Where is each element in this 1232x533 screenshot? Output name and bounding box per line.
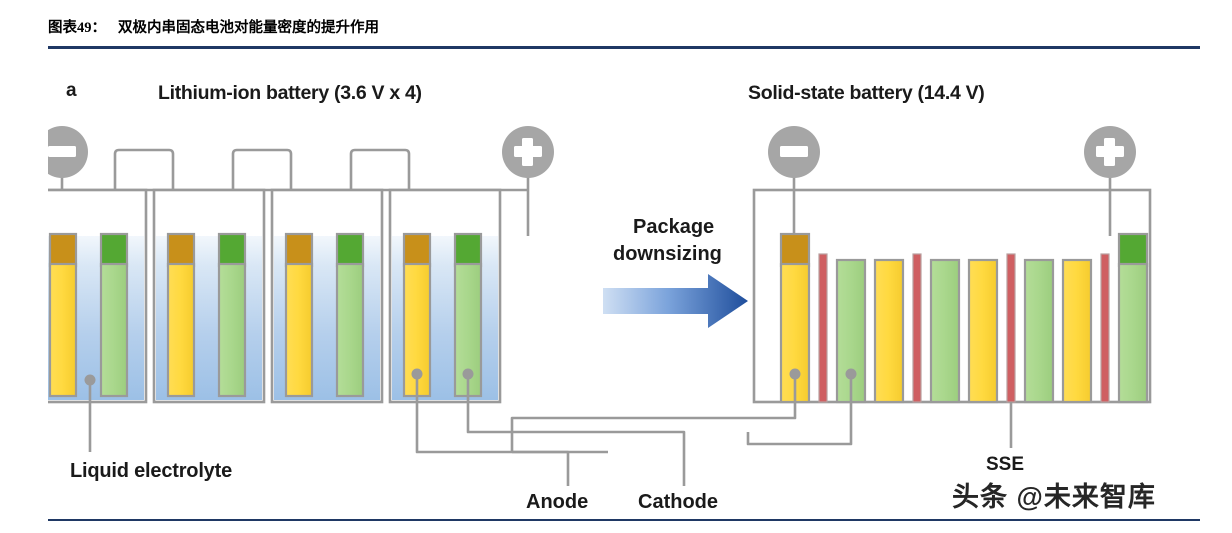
figure-diagram: a Lithium-ion battery (3.6 V x 4) Solid-… [48, 56, 1200, 516]
ssb-sse-4 [1101, 254, 1109, 402]
liion-cell-3 [272, 190, 382, 402]
ssb-sse-2 [913, 254, 921, 402]
figure-title-text: 双极内串固态电池对能量密度的提升作用 [118, 20, 379, 36]
ssb-sse-1 [819, 254, 827, 402]
ssb-positive-terminal-icon [1084, 126, 1136, 178]
watermark: 头条 @未来智库 [952, 475, 1156, 514]
negative-terminal-icon [48, 126, 88, 178]
label-liquid-electrolyte: Liquid electrolyte [70, 460, 232, 483]
ssb-sse-3 [1007, 254, 1015, 402]
ssb-cathode-4 [1119, 234, 1147, 402]
header-divider [48, 46, 1200, 49]
page-title: 图表49：双极内串固态电池对能量密度的提升作用 [48, 18, 1200, 38]
label-sse: SSE [986, 454, 1024, 476]
right-panel-title: Solid-state battery (14.4 V) [748, 82, 985, 105]
callout-dot-anode-right [790, 369, 801, 380]
package-downsizing-line1: Package [633, 216, 714, 239]
callout-dot-anode-left [412, 369, 423, 380]
label-cathode: Cathode [638, 491, 718, 514]
panel-label-a: a [66, 80, 77, 102]
label-anode: Anode [526, 491, 588, 514]
right-battery-panel [754, 126, 1150, 448]
callout-dot-cathode-right [846, 369, 857, 380]
ssb-anode-2 [875, 260, 903, 402]
liion-cell-4 [390, 190, 500, 402]
ssb-anode-4 [1063, 260, 1091, 402]
battery-comparison-diagram [48, 56, 1200, 516]
ssb-anode-3 [969, 260, 997, 402]
left-battery-panel [48, 126, 554, 452]
left-panel-title: Lithium-ion battery (3.6 V x 4) [158, 82, 422, 105]
liion-cell-2 [154, 190, 264, 402]
figure-number: 图表49： [48, 20, 106, 36]
callout-dot-cathode-left [463, 369, 474, 380]
callout-dot-electrolyte [85, 375, 96, 386]
positive-terminal-icon [502, 126, 554, 178]
ssb-negative-terminal-icon [768, 126, 820, 178]
footer-divider [48, 519, 1200, 521]
ssb-cathode-3 [1025, 260, 1053, 402]
package-downsizing-arrow [603, 274, 748, 328]
ssb-cathode-2 [931, 260, 959, 402]
package-downsizing-line2: downsizing [613, 243, 722, 266]
liion-cell-1 [48, 190, 146, 402]
